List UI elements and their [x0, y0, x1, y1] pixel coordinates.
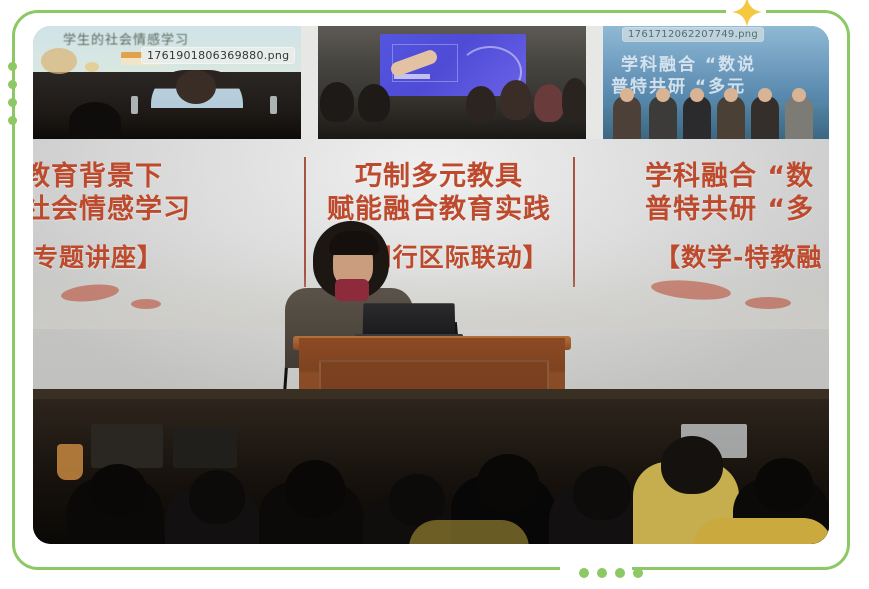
audience-member-yellow: [693, 518, 829, 544]
attendee: [562, 78, 586, 122]
group-member-head: [690, 88, 704, 102]
attendee: [500, 80, 532, 120]
sparkle-icon: [731, 0, 763, 28]
decor-dot: [579, 568, 589, 578]
thumbnail-left-audience-head: [69, 102, 121, 139]
slide-thumbnail-row: 学生的社会情感学习 1761901806369880.png: [33, 26, 829, 139]
decor-dot: [8, 80, 17, 89]
group-member-head: [656, 88, 670, 102]
slide-panel-right-line1: 学科融合 “数: [623, 161, 829, 194]
conference-photo: 学生的社会情感学习 1761901806369880.png: [33, 26, 829, 544]
decor-blob-shape: [85, 62, 99, 72]
group-member-head: [792, 88, 806, 102]
slide-text-area: 合教育背景下 的社会情感学习 【专题讲座】 巧制多元教具 赋能融合教育实践 汇-…: [33, 139, 829, 329]
decor-dot: [8, 98, 17, 107]
audience-head: [573, 466, 631, 520]
attendee: [320, 82, 354, 122]
floor-monitor: [91, 424, 163, 468]
decor-bottle-shape-2: [270, 96, 277, 114]
decor-dot: [633, 568, 643, 578]
decor-dot: [615, 568, 625, 578]
screenshot-root: 学生的社会情感学习 1761901806369880.png: [0, 0, 869, 589]
group-member: [785, 96, 813, 139]
slide-panel-left-line1: 合教育背景下: [33, 161, 289, 194]
file-name-chip-right: 1761712062207749.png: [623, 28, 763, 41]
slide-panel-left-line2: 的社会情感学习: [33, 194, 289, 227]
decor-dot: [8, 62, 17, 71]
group-member-head: [620, 88, 634, 102]
audience-head: [285, 460, 345, 518]
decor-dot: [8, 116, 17, 125]
splash-blob: [650, 278, 731, 303]
attendee: [534, 84, 564, 122]
group-member: [717, 96, 745, 139]
thumbnail-left-speaker-head: [176, 70, 216, 104]
audience-head: [189, 470, 245, 524]
laptop-screen: [363, 303, 456, 337]
audience-head: [661, 436, 723, 494]
attendee: [466, 86, 496, 122]
slide-panel-right-subtitle: 【数学-特教融: [623, 243, 829, 274]
decor-bear-shape: [41, 48, 77, 74]
group-member-head: [724, 88, 738, 102]
slide-panel-left-subtitle: 【专题讲座】: [33, 243, 289, 274]
splash-blob: [60, 282, 119, 304]
group-member-head: [758, 88, 772, 102]
slide-panel-right: 学科融合 “数 普特共研 “多 【数学-特教融: [623, 161, 829, 273]
floor-monitor-2: [173, 428, 237, 468]
speaker-fringe: [329, 231, 379, 255]
decor-dot: [597, 568, 607, 578]
photo-card[interactable]: 学生的社会情感学习 1761901806369880.png: [33, 26, 829, 544]
thumbnail-gap-1: [301, 26, 318, 139]
group-member: [613, 96, 641, 139]
thumbnail-left-caption: 学生的社会情感学习: [63, 29, 189, 48]
thumbnail-right: 1761712062207749.png 学科融合 “数说 普特共研 “多元: [603, 26, 829, 139]
slide-divider-2: [573, 157, 575, 287]
stage-edge: [33, 389, 829, 399]
slide-panel-right-line2: 普特共研 “多: [623, 194, 829, 227]
slide-panel-center-line1: 巧制多元教具: [319, 161, 559, 194]
thumbnail-gap-2: [586, 26, 603, 139]
file-name-chip-left: 1761901806369880.png: [142, 48, 294, 63]
splash-blob: [131, 299, 161, 309]
slide-panel-left: 合教育背景下 的社会情感学习 【专题讲座】: [33, 161, 289, 273]
decor-dots-left: [8, 62, 17, 125]
audience-head: [477, 454, 539, 512]
decor-bottle-shape: [131, 96, 138, 114]
thumbnail-left: 学生的社会情感学习 1761901806369880.png: [33, 26, 301, 139]
splash-blob: [745, 297, 791, 309]
audience-head: [389, 474, 445, 526]
decor-dots-bottom: [579, 568, 643, 578]
drink-cup: [57, 444, 83, 480]
group-member: [751, 96, 779, 139]
speaker-collar: [335, 279, 369, 301]
group-member: [649, 96, 677, 139]
thumbnail-center: [318, 26, 586, 139]
audience-head: [755, 458, 813, 512]
audience-member-yellow: [409, 520, 529, 544]
audience-head: [89, 464, 147, 516]
group-member: [683, 96, 711, 139]
attendee: [358, 84, 390, 122]
slide-divider-1: [304, 157, 306, 287]
